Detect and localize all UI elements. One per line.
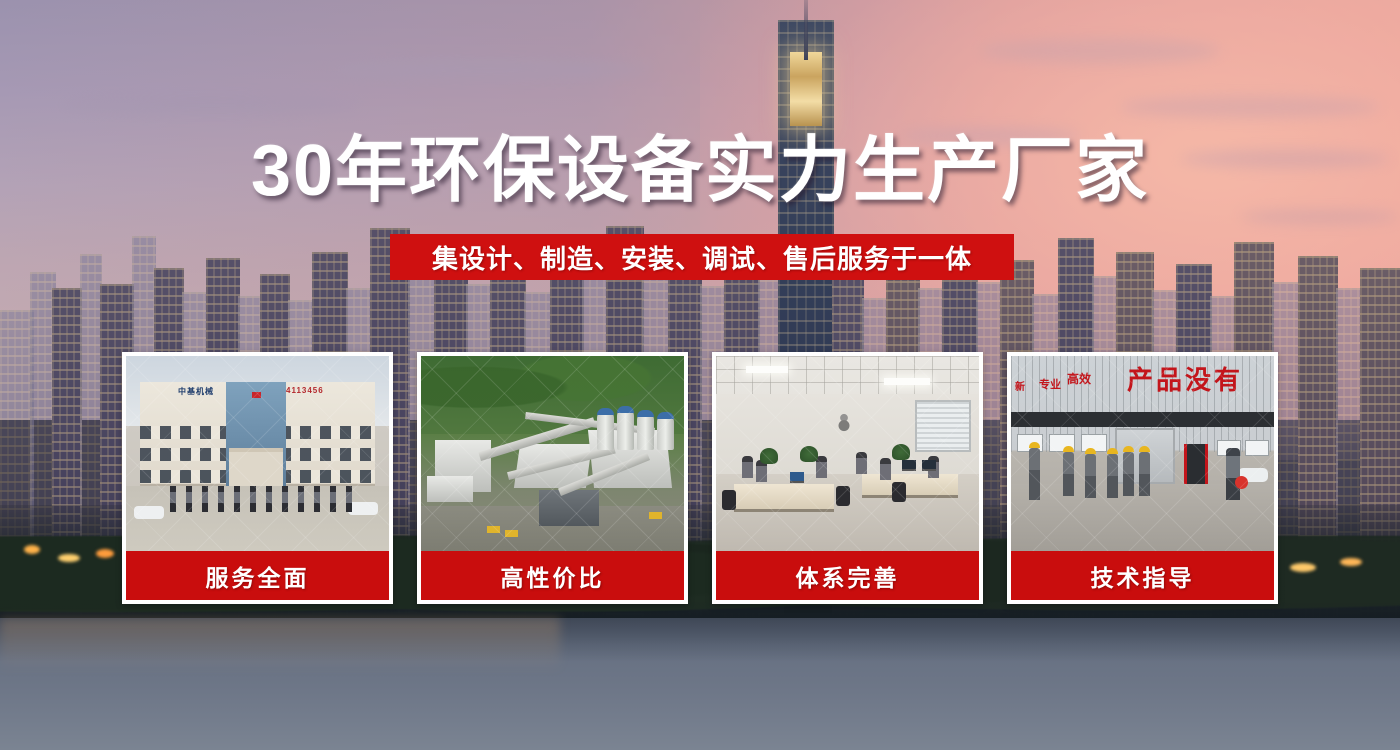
card-photo-industrial-plant bbox=[421, 356, 684, 551]
subtitle-band: 集设计、制造、安装、调试、售后服务于一体 bbox=[390, 234, 1014, 280]
card-caption: 技术指导 bbox=[1011, 551, 1274, 600]
building-phone-text: 4113456 bbox=[286, 386, 324, 395]
tower-crown-lights bbox=[790, 52, 822, 126]
card-caption: 服务全面 bbox=[126, 551, 389, 600]
feature-card[interactable]: 体系完善 bbox=[712, 352, 983, 604]
card-photo-office-interior bbox=[716, 356, 979, 551]
water-reflection bbox=[0, 618, 560, 672]
subtitle-text: 集设计、制造、安装、调试、售后服务于一体 bbox=[432, 239, 972, 276]
card-caption: 高性价比 bbox=[421, 551, 684, 600]
factory-slogan-secondary: 高效 bbox=[1067, 370, 1091, 387]
shore-light bbox=[24, 545, 40, 554]
feature-card[interactable]: 产品没有 高效 专业 新 bbox=[1007, 352, 1278, 604]
feature-card[interactable]: 中基机械 4113456 服务全面 bbox=[122, 352, 393, 604]
building-sign-text: 中基机械 bbox=[178, 386, 214, 397]
factory-slogan-quaternary: 新 bbox=[1015, 378, 1025, 393]
shore-light bbox=[1340, 558, 1362, 566]
feature-card-row: 中基机械 4113456 服务全面 bbox=[122, 352, 1278, 604]
feature-card[interactable]: 高性价比 bbox=[417, 352, 688, 604]
tower-spire bbox=[804, 0, 808, 60]
shore-light bbox=[1290, 563, 1316, 572]
card-photo-workers-lineup: 产品没有 高效 专业 新 bbox=[1011, 356, 1274, 551]
shore-light bbox=[96, 549, 114, 558]
factory-slogan-main: 产品没有 bbox=[1127, 360, 1243, 397]
factory-slogan-tertiary: 专业 bbox=[1039, 376, 1061, 392]
page-title: 30年环保设备实力生产厂家 bbox=[0, 132, 1400, 211]
card-photo-office-building: 中基机械 4113456 bbox=[126, 356, 389, 551]
card-caption: 体系完善 bbox=[716, 551, 979, 600]
shore-light bbox=[58, 554, 80, 562]
promo-banner: 30年环保设备实力生产厂家 集设计、制造、安装、调试、售后服务于一体 中基机械 … bbox=[0, 0, 1400, 750]
